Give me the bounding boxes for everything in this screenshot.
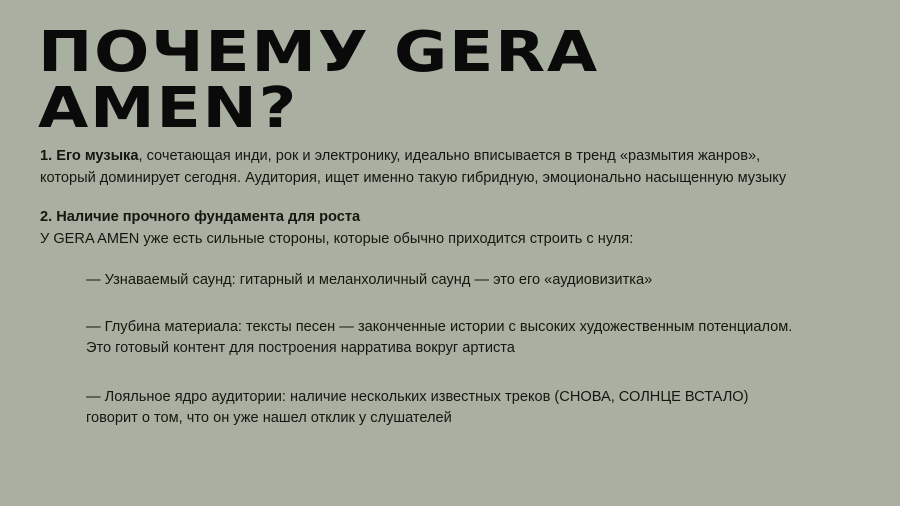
paragraph-1: 1. Его музыка, сочетающая инди, рок и эл… — [40, 146, 802, 189]
paragraph-1-rest: , сочетающая инди, рок и электронику, ид… — [40, 148, 786, 186]
list-item: — Глубина материала: тексты песен — зако… — [86, 317, 802, 360]
slide-title: ПОЧЕМУ GERA AMEN? — [38, 26, 798, 136]
list-item: — Узнаваемый саунд: гитарный и меланхоли… — [86, 270, 802, 292]
paragraph-1-lead: 1. Его музыка — [40, 148, 138, 164]
list-item: — Лояльное ядро аудитории: наличие неско… — [86, 387, 802, 430]
section-2-heading: 2. Наличие прочного фундамента для роста — [40, 207, 802, 229]
slide-body: 1. Его музыка, сочетающая инди, рок и эл… — [40, 146, 802, 430]
slide-canvas: ПОЧЕМУ GERA AMEN? 1. Его музыка, сочетаю… — [0, 0, 900, 506]
title-line-2: AMEN? — [38, 82, 900, 136]
title-line-1: ПОЧЕМУ GERA — [38, 26, 900, 80]
section-2-intro: У GERA AMEN уже есть сильные стороны, ко… — [40, 229, 802, 251]
